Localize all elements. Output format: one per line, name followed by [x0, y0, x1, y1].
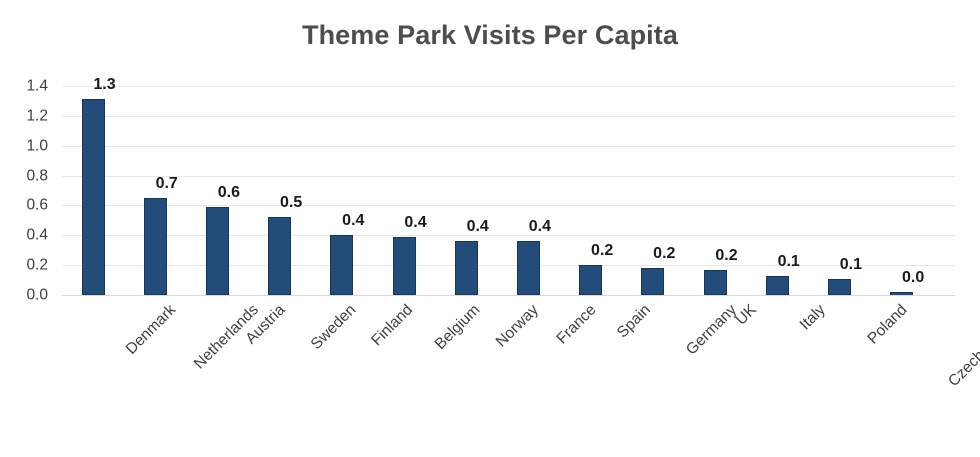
y-axis-tick-label: 0.0: [4, 287, 48, 303]
bar: [206, 207, 229, 295]
gridline: [62, 235, 955, 236]
chart-title: Theme Park Visits Per Capita: [0, 20, 980, 51]
bar-value-label: 0.2: [697, 248, 757, 264]
x-axis-category-label: UK: [733, 302, 759, 328]
x-axis-category-label: Finland: [369, 302, 416, 349]
x-axis-category-label: Spain: [614, 302, 653, 341]
bar: [393, 237, 416, 295]
gridline: [62, 86, 955, 87]
x-axis-category-label: Germany: [683, 302, 739, 358]
bar-value-label: 0.4: [323, 213, 383, 229]
x-axis-category-label: Sweden: [308, 302, 359, 353]
bar: [579, 265, 602, 295]
x-axis-category-label: Belgium: [432, 302, 483, 353]
bar-value-label: 0.1: [821, 257, 881, 273]
bar-value-label: 0.6: [199, 185, 259, 201]
bar-value-label: 0.1: [759, 254, 819, 270]
gridline: [62, 205, 955, 206]
bar: [890, 292, 913, 295]
y-axis-tick-label: 0.6: [4, 198, 48, 214]
bar-value-label: 0.4: [448, 219, 508, 235]
x-axis-category-label: Czech Republic: [945, 302, 980, 390]
bar: [455, 241, 478, 295]
bar: [330, 235, 353, 295]
bar-value-label: 0.7: [137, 176, 197, 192]
gridline: [62, 146, 955, 147]
x-axis-category-label: Denmark: [123, 302, 178, 357]
x-axis-category-label: Poland: [866, 302, 911, 347]
bar-value-label: 0.2: [572, 243, 632, 259]
bar-value-label: 1.3: [75, 77, 135, 93]
y-axis-tick-label: 1.4: [4, 78, 48, 94]
bar-value-label: 0.2: [634, 246, 694, 262]
bar: [144, 198, 167, 295]
bar: [828, 279, 851, 295]
gridline: [62, 295, 955, 296]
bar: [517, 241, 540, 295]
y-axis-tick-label: 1.0: [4, 138, 48, 154]
bar: [704, 270, 727, 295]
x-axis-category-label: Norway: [494, 302, 542, 350]
bar: [641, 268, 664, 295]
y-axis-tick-label: 0.2: [4, 257, 48, 273]
bar-value-label: 0.5: [261, 195, 321, 211]
x-axis-category-label: France: [555, 302, 600, 347]
x-axis-category-label: Italy: [798, 302, 829, 333]
bar: [766, 276, 789, 295]
bar-value-label: 0.4: [510, 219, 570, 235]
bar-value-label: 0.4: [386, 215, 446, 231]
y-axis-tick-label: 0.8: [4, 168, 48, 184]
bar-chart-figure: Theme Park Visits Per Capita 0.00.20.40.…: [0, 0, 980, 457]
gridline: [62, 116, 955, 117]
bar-value-label: 0.0: [883, 270, 943, 286]
bar: [268, 217, 291, 295]
y-axis-tick-label: 1.2: [4, 108, 48, 124]
y-axis-tick-label: 0.4: [4, 228, 48, 244]
bar: [82, 99, 105, 295]
